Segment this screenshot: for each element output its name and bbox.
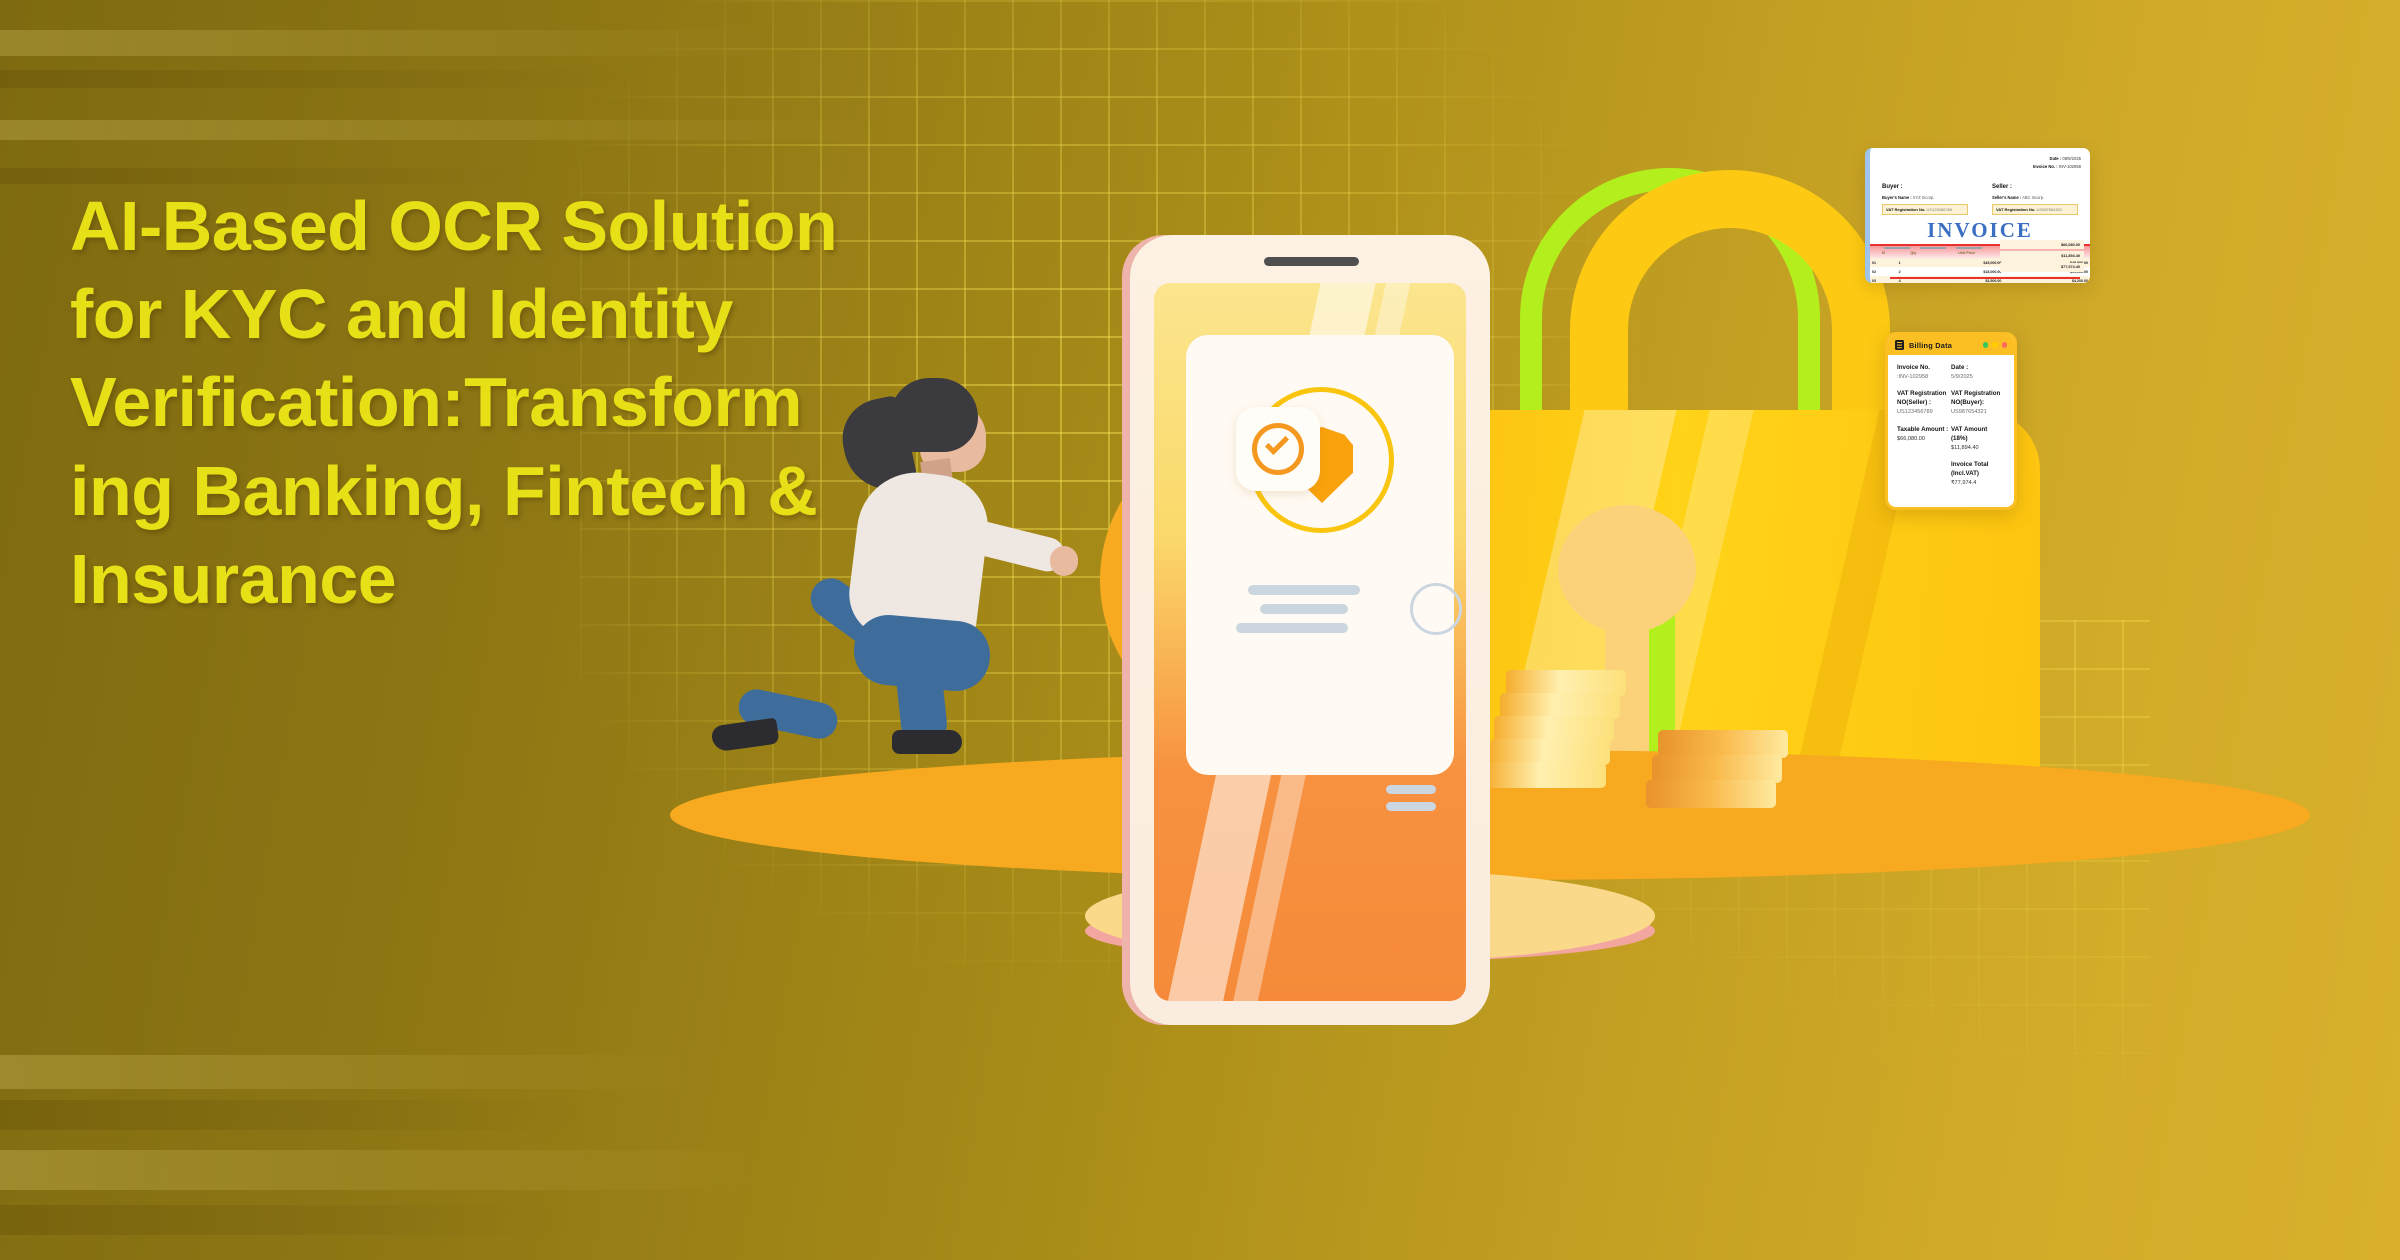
field-value: $11,894.40 xyxy=(1951,444,2005,452)
phone-speaker xyxy=(1264,257,1359,266)
field-label: VAT Registration NO(Seller) : xyxy=(1897,390,1951,408)
field-value: ₹77,974.4 xyxy=(1951,479,2005,487)
field-label: Invoice Total (Incl.VAT) xyxy=(1951,461,2005,479)
person-illustration xyxy=(770,378,1070,768)
billing-data-card: Billing Data Invoice No. :INV-102958 Dat… xyxy=(1885,332,2017,510)
billing-field: Invoice No. :INV-102958 xyxy=(1897,364,1951,390)
headline-line: AI-Based OCR Solution xyxy=(70,182,1130,270)
total-row: $11,894.40 xyxy=(2000,251,2084,260)
dash xyxy=(1956,247,1982,249)
seller-name: Seller's Name : ABC Incorp. xyxy=(1992,195,2078,200)
field-label: VAT Registration NO(Buyer): xyxy=(1951,390,2005,408)
coin xyxy=(1652,755,1782,783)
field-label: Taxable Amount : xyxy=(1897,426,1951,435)
avatar-placeholder xyxy=(1410,583,1462,635)
placeholder-line xyxy=(1386,785,1436,794)
field-label: Date : xyxy=(1951,364,2005,373)
invoice-date: Date : 08/9/2025 xyxy=(2033,156,2081,161)
coin xyxy=(1486,762,1606,788)
streak xyxy=(0,1150,900,1190)
field-value: US987654321 xyxy=(1951,408,2005,416)
invoice-seller-block: Seller : Seller's Name : ABC Incorp. VAT… xyxy=(1980,184,2090,215)
person-hand xyxy=(1050,546,1078,576)
invoice-placeholder-dashes xyxy=(1884,247,1982,249)
billing-card-titlebar: Billing Data xyxy=(1888,335,2014,355)
field-value: $66,080.00 xyxy=(1897,435,1951,443)
placeholder-line xyxy=(1386,802,1436,811)
column-header: Sl xyxy=(1870,248,1897,258)
placeholder-lines xyxy=(1248,585,1360,642)
billing-card-body: Invoice No. :INV-102958 Date : 5/9/2025 … xyxy=(1888,355,2014,507)
field-value: :INV-102958 xyxy=(1897,373,1951,381)
billing-row: Invoice No. :INV-102958 Date : 5/9/2025 xyxy=(1897,364,2005,390)
invoice-parties: Buyer : Buyer's Name : XYZ Incorp. VAT R… xyxy=(1870,184,2090,215)
headline-line: for KYC and Identity xyxy=(70,270,1130,358)
placeholder-line xyxy=(1260,604,1348,614)
invoice-buyer-block: Buyer : Buyer's Name : XYZ Incorp. VAT R… xyxy=(1870,184,1980,215)
billing-row: VAT Registration NO(Seller) : US12345678… xyxy=(1897,390,2005,425)
column-header: Qty xyxy=(1897,248,1930,258)
billing-field: Date : 5/9/2025 xyxy=(1951,364,2005,390)
person-front-foot xyxy=(892,730,962,754)
window-dot-green[interactable] xyxy=(1983,342,1989,348)
placeholder-line xyxy=(1236,623,1348,633)
person-hair xyxy=(890,378,978,452)
window-dot-red[interactable] xyxy=(2002,342,2008,348)
field-value: US123456789 xyxy=(1897,408,1951,416)
coin-stack-right xyxy=(1650,730,1788,808)
seller-heading: Seller : xyxy=(1992,184,2078,190)
seller-vat: VAT Registration No. US987654321 xyxy=(1992,204,2078,215)
field-label: Invoice No. xyxy=(1897,364,1951,373)
streak xyxy=(0,1100,700,1130)
total-row: $77,974.40 xyxy=(2000,263,2084,272)
total-row: $66,080.00 xyxy=(2000,240,2084,249)
coin-stack-left xyxy=(1490,670,1626,788)
window-controls xyxy=(1983,342,2008,348)
verified-badge xyxy=(1236,407,1320,491)
invoice-document: Date : 08/9/2025 Invoice No. : INV-10295… xyxy=(1865,148,2090,283)
billing-card-title: Billing Data xyxy=(1909,341,1952,350)
coin xyxy=(1658,730,1788,758)
smartphone-mockup xyxy=(1130,235,1490,1025)
screen-card-bottom xyxy=(1186,639,1454,775)
document-icon xyxy=(1895,340,1904,350)
billing-row: Taxable Amount : $66,080.00 VAT Amount (… xyxy=(1897,426,2005,497)
phone-screen xyxy=(1154,283,1466,1001)
invoice-totals: $66,080.00 $11,894.40 $77,974.40 xyxy=(2000,240,2084,274)
field-label: VAT Amount (18%) xyxy=(1951,426,2005,444)
field-value: 5/9/2025 xyxy=(1951,373,2005,381)
dash xyxy=(1884,247,1910,249)
hero-banner: AI-Based OCR Solution for KYC and Identi… xyxy=(0,0,2400,1260)
placeholder-lines-small xyxy=(1386,785,1436,819)
billing-field: VAT Registration NO(Buyer): US987654321 xyxy=(1951,390,2005,425)
coin xyxy=(1646,780,1776,808)
invoice-number: Invoice No. : INV-102958 xyxy=(2033,164,2081,169)
invoice-bottom-divider xyxy=(1890,277,2080,279)
streak xyxy=(0,1205,660,1235)
invoice-meta: Date : 08/9/2025 Invoice No. : INV-10295… xyxy=(2033,156,2081,172)
billing-field: Taxable Amount : $66,080.00 xyxy=(1897,426,1951,497)
buyer-vat: VAT Registration No. US123456789 xyxy=(1882,204,1968,215)
column-header: Unit Price xyxy=(1930,248,2003,258)
placeholder-line xyxy=(1248,585,1360,595)
billing-field: VAT Amount (18%) $11,894.40 Invoice Tota… xyxy=(1951,426,2005,497)
buyer-name: Buyer's Name : XYZ Incorp. xyxy=(1882,195,1968,200)
billing-field: VAT Registration NO(Seller) : US12345678… xyxy=(1897,390,1951,425)
buyer-heading: Buyer : xyxy=(1882,184,1968,190)
window-dot-yellow[interactable] xyxy=(1992,342,1998,348)
dash xyxy=(1920,247,1946,249)
hero-illustration: $ xyxy=(1190,110,2400,1110)
